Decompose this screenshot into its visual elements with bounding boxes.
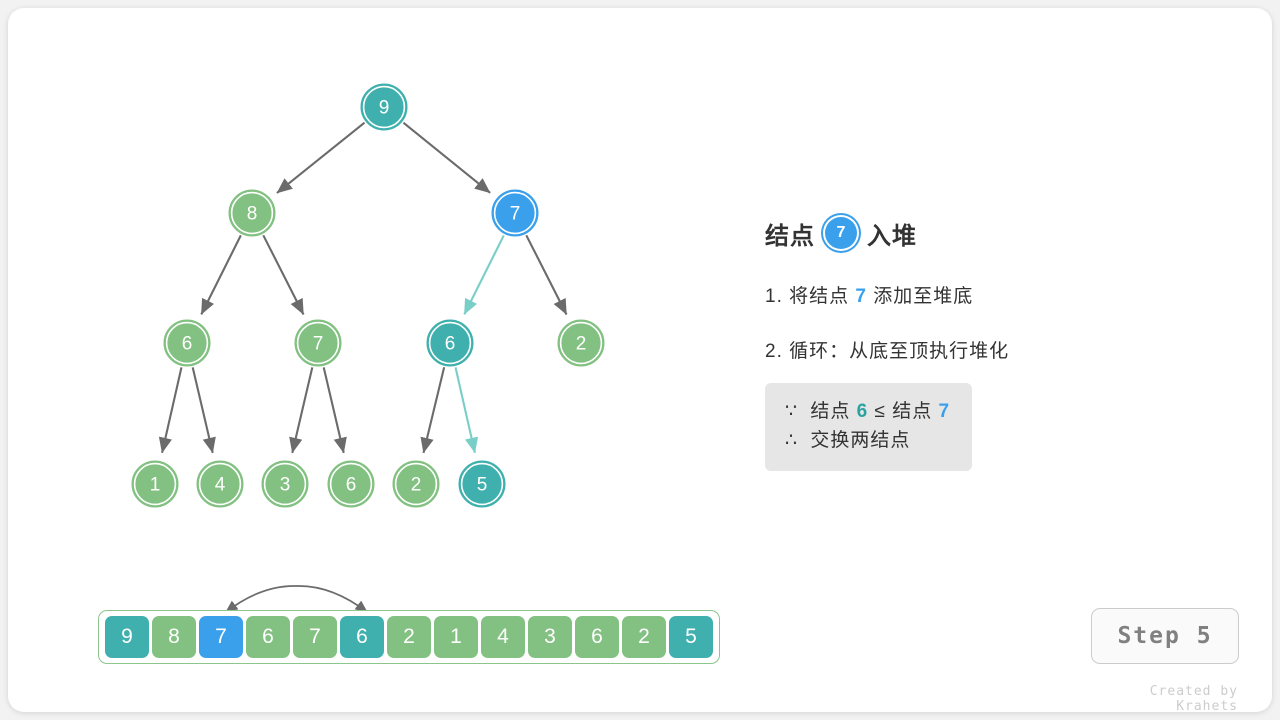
panel-step-1: 1. 将结点 7 添加至堆底 <box>765 281 1245 308</box>
array-cell: 2 <box>387 616 431 658</box>
node-value: 3 <box>280 475 291 496</box>
array-cell: 8 <box>152 616 196 658</box>
node-value: 2 <box>576 334 587 355</box>
tree-edges <box>162 123 566 453</box>
note-value-b: 7 <box>939 401 951 422</box>
tree-edge <box>456 367 475 452</box>
tree-edge <box>263 235 303 314</box>
step1-before: 1. 将结点 <box>765 286 849 307</box>
node-value: 9 <box>379 98 390 119</box>
tree-node: 9 <box>361 84 407 130</box>
node-value: 1 <box>150 475 161 496</box>
array-cell: 6 <box>575 616 619 658</box>
tree-edge <box>292 367 312 452</box>
note-line-conclusion: ∴ 交换两结点 <box>785 426 950 455</box>
tree-edge <box>324 367 344 452</box>
tree-edge <box>424 367 445 453</box>
therefore-symbol: ∴ <box>785 430 798 451</box>
node-value: 6 <box>346 475 357 496</box>
array-cell: 3 <box>528 616 572 658</box>
panel-title-prefix: 结点 <box>765 216 815 251</box>
node-value: 2 <box>411 475 422 496</box>
tree-node: 6 <box>328 461 374 507</box>
tree-node: 6 <box>427 320 473 366</box>
content-card: 9876762143625 结点 7 入堆 1. 将结点 7 添加至堆底 2. … <box>8 8 1272 712</box>
array-cell: 5 <box>669 616 713 658</box>
note-node-label-a: 结点 <box>810 401 850 422</box>
array-cell: 1 <box>434 616 478 658</box>
tree-node: 1 <box>132 461 178 507</box>
node-value: 6 <box>182 334 193 355</box>
explanation-panel: 结点 7 入堆 1. 将结点 7 添加至堆底 2. 循环：从底至顶执行堆化 ∵ … <box>765 213 1245 471</box>
tree-node: 6 <box>164 320 210 366</box>
tree-edge <box>162 367 181 452</box>
panel-title-badge: 7 <box>825 217 857 249</box>
tree-edge <box>464 235 504 314</box>
note-value-a: 6 <box>857 401 869 422</box>
tree-edge <box>277 123 365 193</box>
tree-node: 8 <box>229 190 275 236</box>
tree-edge <box>193 367 213 452</box>
tree-node: 3 <box>262 461 308 507</box>
note-conclusion-text: 交换两结点 <box>810 430 910 451</box>
panel-note-box: ∵ 结点 6 ≤ 结点 7 ∴ 交换两结点 <box>765 383 972 471</box>
tree-node: 4 <box>197 461 243 507</box>
array-cell: 7 <box>293 616 337 658</box>
array-cell: 6 <box>340 616 384 658</box>
array-container: 9876762143625 <box>98 610 720 664</box>
array-cell: 7 <box>199 616 243 658</box>
tree-node: 7 <box>492 190 538 236</box>
panel-title-suffix: 入堆 <box>867 216 917 251</box>
note-line-premise: ∵ 结点 6 ≤ 结点 7 <box>785 397 950 426</box>
array-cell: 6 <box>246 616 290 658</box>
credit-text: Created by Krahets <box>1086 684 1238 714</box>
binary-heap-tree: 9876762143625 <box>8 8 748 548</box>
array-representation: 9876762143625 <box>96 578 736 668</box>
node-value: 8 <box>247 204 258 225</box>
because-symbol: ∵ <box>785 401 798 422</box>
node-value: 7 <box>510 204 521 225</box>
tree-edge <box>403 123 490 193</box>
tree-edge <box>526 235 566 314</box>
tree-edge <box>201 235 241 314</box>
node-value: 7 <box>313 334 324 355</box>
node-value: 4 <box>215 475 226 496</box>
step1-after: 添加至堆底 <box>873 286 973 307</box>
step1-value: 7 <box>855 286 867 307</box>
step-badge: Step 5 <box>1091 608 1239 664</box>
panel-step-2: 2. 循环：从底至顶执行堆化 <box>765 336 1245 363</box>
node-value: 6 <box>445 334 456 355</box>
note-operator: ≤ <box>875 401 886 422</box>
array-cell: 4 <box>481 616 525 658</box>
tree-node: 2 <box>393 461 439 507</box>
tree-node: 5 <box>459 461 505 507</box>
array-cell: 9 <box>105 616 149 658</box>
panel-title: 结点 7 入堆 <box>765 213 1245 253</box>
screenshot-root: 9876762143625 结点 7 入堆 1. 将结点 7 添加至堆底 2. … <box>0 0 1280 720</box>
tree-node: 7 <box>295 320 341 366</box>
tree-node: 2 <box>558 320 604 366</box>
note-node-label-b: 结点 <box>892 401 932 422</box>
array-cell: 2 <box>622 616 666 658</box>
node-value: 5 <box>477 475 488 496</box>
tree-nodes: 9876762143625 <box>132 84 604 507</box>
